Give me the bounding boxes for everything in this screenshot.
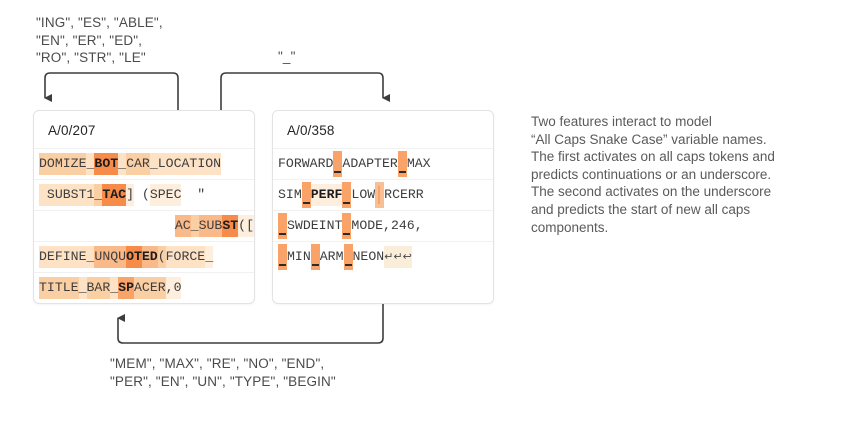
token: BAR	[87, 277, 111, 299]
token: (	[158, 246, 166, 268]
underscore-marker	[278, 213, 287, 239]
underscore-marker	[342, 213, 351, 239]
token: BOT	[94, 153, 118, 175]
top-left-token-list: "ING", "ES", "ABLE", "EN", "ER", "ED", "…	[36, 14, 163, 67]
token: TITLE	[39, 277, 79, 299]
token: FORWARD	[278, 153, 333, 175]
explanation-note: Two features interact to model “All Caps…	[531, 113, 841, 236]
token-row: TITLE_BAR_SPACER,0	[34, 272, 254, 303]
token: SP	[118, 277, 134, 299]
top-right-token-list: "_"	[278, 48, 296, 66]
token-row-content: SIMPERFLOWRCERR	[278, 180, 424, 210]
token: _	[150, 153, 158, 175]
token: ,0	[166, 277, 182, 299]
control-char-glyph: ↵↵↩	[384, 246, 412, 268]
token-row-content: MINARMNEON↵↵↩	[278, 242, 412, 272]
token: SWDEINT	[287, 215, 342, 237]
token: _	[191, 215, 199, 237]
token: _	[94, 184, 102, 206]
feature-panel-right[interactable]: A/0/358 FORWARDADAPTERMAXSIMPERFLOWRCERR…	[272, 110, 494, 304]
token: MIN	[287, 246, 311, 268]
token: RCERR	[384, 184, 424, 206]
connector-top-left	[45, 73, 178, 110]
token-row-list-right: FORWARDADAPTERMAXSIMPERFLOWRCERRSWDEINTM…	[273, 148, 493, 272]
token-row: MINARMNEON↵↵↩	[273, 241, 493, 272]
token: ([	[238, 215, 254, 237]
token: ED	[142, 246, 158, 268]
token: LOCATION	[158, 153, 221, 175]
panel-title-right: A/0/358	[273, 111, 493, 148]
connector-bottom	[118, 304, 383, 343]
token: LOW	[351, 184, 375, 206]
underscore-marker	[333, 151, 342, 177]
token-row-content: SWDEINTMODE,246,	[278, 211, 423, 241]
token: "	[181, 184, 205, 206]
token-row-content: FORWARDADAPTERMAX	[278, 149, 431, 179]
token: ]	[126, 184, 134, 206]
token-row-content: TITLE_BAR_SPACER,0	[39, 273, 181, 303]
token: PERF	[311, 184, 343, 206]
token: SUBST1	[39, 184, 94, 206]
token-row: AC_SUBST([	[34, 210, 254, 241]
feature-panel-left[interactable]: A/0/207 DOMIZE_BOT_CAR_LOCATION SUBST1_T…	[33, 110, 255, 304]
token-row: DOMIZE_BOT_CAR_LOCATION	[34, 148, 254, 179]
token: ARM	[320, 246, 344, 268]
underscore-marker	[278, 244, 287, 270]
token-row-list-left: DOMIZE_BOT_CAR_LOCATION SUBST1_TAC] (SPE…	[34, 148, 254, 303]
token: SPEC	[150, 184, 182, 206]
token-row: DEFINE_UNQUOTED(FORCE_	[34, 241, 254, 272]
diagram-canvas: "ING", "ES", "ABLE", "EN", "ER", "ED", "…	[0, 0, 861, 423]
token: ACER	[134, 277, 166, 299]
token: _	[86, 246, 94, 268]
token: _	[205, 246, 213, 268]
token: SIM	[278, 184, 302, 206]
token: (	[134, 184, 150, 206]
token-row-content: DOMIZE_BOT_CAR_LOCATION	[39, 149, 221, 179]
token: UNQU	[94, 246, 126, 268]
token-row: SUBST1_TAC] (SPEC "	[34, 179, 254, 210]
token: DOMIZE	[39, 153, 86, 175]
token-row-content: AC_SUBST([	[175, 211, 254, 241]
underscore-marker	[344, 244, 353, 270]
token: TAC	[102, 184, 126, 206]
token: ADAPTER	[342, 153, 397, 175]
token: FORCE	[166, 246, 206, 268]
token: _	[86, 153, 94, 175]
token: MODE,246,	[351, 215, 422, 237]
token: SUB	[199, 215, 223, 237]
token-row-content: DEFINE_UNQUOTED(FORCE_	[39, 242, 213, 272]
token-row: SWDEINTMODE,246,	[273, 210, 493, 241]
connector-top-right	[221, 73, 383, 110]
token: AC	[175, 215, 191, 237]
token: _	[110, 277, 118, 299]
underscore-marker	[342, 182, 351, 208]
token: DEFINE	[39, 246, 86, 268]
token: _	[118, 153, 126, 175]
underscore-marker	[311, 244, 320, 270]
panel-title-left: A/0/207	[34, 111, 254, 148]
pipe-marker	[375, 182, 384, 208]
token-row: SIMPERFLOWRCERR	[273, 179, 493, 210]
token: ST	[222, 215, 238, 237]
bottom-token-list: "MEM", "MAX", "RE", "NO", "END", "PER", …	[110, 355, 336, 390]
token: _	[79, 277, 87, 299]
token-row: FORWARDADAPTERMAX	[273, 148, 493, 179]
token: CAR	[126, 153, 150, 175]
token: NEON	[353, 246, 385, 268]
token: OT	[126, 246, 142, 268]
underscore-marker	[302, 182, 311, 208]
token-row-content: SUBST1_TAC] (SPEC "	[39, 180, 205, 210]
underscore-marker	[398, 151, 407, 177]
token: MAX	[407, 153, 431, 175]
